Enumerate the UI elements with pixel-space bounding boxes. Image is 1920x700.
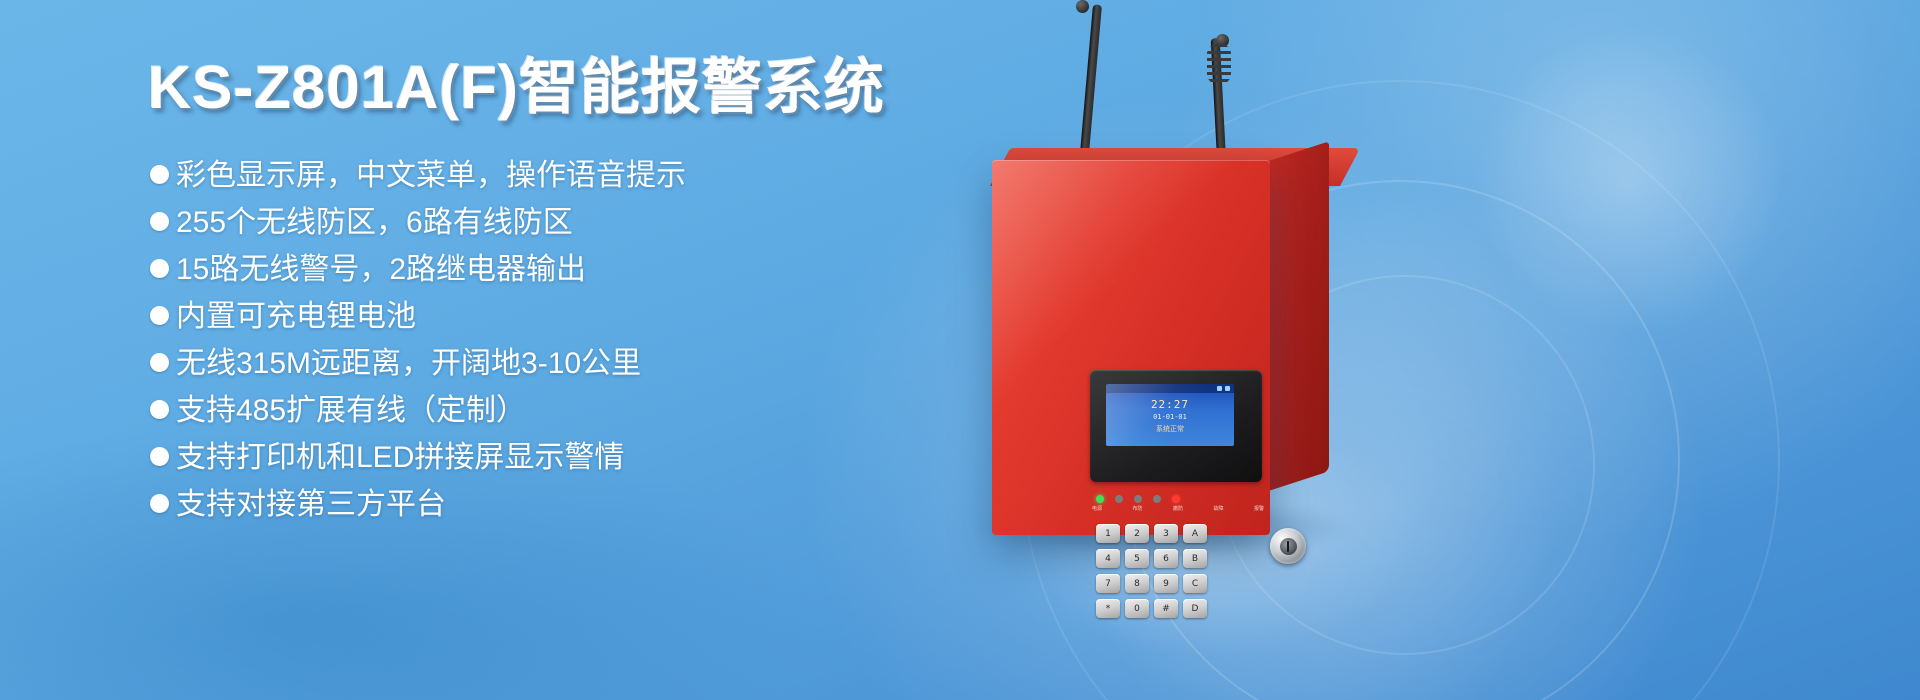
feature-text: 彩色显示屏，中文菜单，操作语音提示	[176, 156, 686, 196]
enclosure-front-face: 22:27 01-01-01 系统正常 电源 布防 撤防 故障 报警	[992, 160, 1270, 535]
led-label: 布防	[1132, 505, 1142, 512]
feature-text: 支持对接第三方平台	[176, 485, 446, 525]
list-item: 无线315M远距离，开阔地3-10公里	[150, 344, 950, 384]
bullet-icon	[150, 165, 169, 184]
feature-text: 支持485扩展有线（定制）	[176, 391, 526, 431]
list-item: 支持对接第三方平台	[150, 485, 950, 525]
feature-text: 支持打印机和LED拼接屏显示警情	[176, 438, 624, 478]
keypad-key[interactable]: 3	[1154, 524, 1178, 543]
list-item: 支持打印机和LED拼接屏显示警情	[150, 438, 950, 478]
product-banner: KS-Z801A(F)智能报警系统 彩色显示屏，中文菜单，操作语音提示 255个…	[0, 0, 1920, 700]
alarm-control-panel-image: 22:27 01-01-01 系统正常 电源 布防 撤防 故障 报警	[930, 0, 1490, 700]
led-label: 故障	[1213, 505, 1223, 512]
led-fault-icon	[1153, 495, 1161, 503]
keypad-key[interactable]: #	[1154, 599, 1178, 618]
keypad-key[interactable]: 2	[1125, 524, 1149, 543]
bullet-icon	[150, 259, 169, 278]
keypad-key[interactable]: *	[1096, 599, 1120, 618]
list-item: 彩色显示屏，中文菜单，操作语音提示	[150, 156, 950, 196]
antenna-left-tip-icon	[1076, 0, 1089, 13]
keypad-key[interactable]: 4	[1096, 549, 1120, 568]
led-arm-icon	[1115, 495, 1123, 503]
feature-text: 255个无线防区，6路有线防区	[176, 203, 573, 243]
feature-text: 内置可充电锂电池	[176, 297, 416, 337]
led-alarm-icon	[1172, 495, 1180, 503]
list-item: 15路无线警号，2路继电器输出	[150, 250, 950, 290]
bullet-icon	[150, 353, 169, 372]
product-title: KS-Z801A(F)智能报警系统	[148, 55, 885, 121]
bullet-icon	[150, 306, 169, 325]
led-label-row: 电源 布防 撤防 故障 报警	[1092, 505, 1264, 512]
led-disarm-icon	[1134, 495, 1142, 503]
keypad[interactable]: 1 2 3 A 4 5 6 B 7 8 9 C * 0 # D	[1096, 524, 1214, 621]
led-indicator-row	[1096, 494, 1256, 504]
keypad-key[interactable]: 9	[1154, 574, 1178, 593]
keypad-key[interactable]: A	[1183, 524, 1207, 543]
antenna-coil-icon	[1207, 44, 1231, 84]
feature-text: 15路无线警号，2路继电器输出	[176, 250, 586, 290]
feature-text: 无线315M远距离，开阔地3-10公里	[176, 344, 641, 384]
copy-column: KS-Z801A(F)智能报警系统 彩色显示屏，中文菜单，操作语音提示 255个…	[0, 0, 980, 700]
decorative-glow-top	[1480, 30, 1780, 330]
feature-list: 彩色显示屏，中文菜单，操作语音提示 255个无线防区，6路有线防区 15路无线警…	[150, 156, 950, 532]
enclosure-side-face	[1263, 141, 1329, 492]
keypad-key[interactable]: 1	[1096, 524, 1120, 543]
key-lock-icon[interactable]	[1270, 528, 1306, 564]
led-label: 电源	[1092, 505, 1102, 512]
keypad-key[interactable]: 6	[1154, 549, 1178, 568]
lock-core	[1280, 538, 1297, 555]
list-item: 255个无线防区，6路有线防区	[150, 203, 950, 243]
led-label: 撤防	[1173, 505, 1183, 512]
keypad-key[interactable]: B	[1183, 549, 1207, 568]
keypad-key[interactable]: C	[1183, 574, 1207, 593]
bullet-icon	[150, 212, 169, 231]
screen-bezel: 22:27 01-01-01 系统正常	[1090, 370, 1262, 482]
lcd-screen: 22:27 01-01-01 系统正常	[1106, 384, 1234, 446]
list-item: 内置可充电锂电池	[150, 297, 950, 337]
keypad-key[interactable]: 7	[1096, 574, 1120, 593]
keypad-key[interactable]: 8	[1125, 574, 1149, 593]
led-power-icon	[1096, 495, 1104, 503]
bullet-icon	[150, 400, 169, 419]
keypad-key[interactable]: D	[1183, 599, 1207, 618]
led-label: 报警	[1254, 505, 1264, 512]
list-item: 支持485扩展有线（定制）	[150, 391, 950, 431]
lock-keyhole	[1287, 541, 1289, 552]
keypad-key[interactable]: 0	[1125, 599, 1149, 618]
bullet-icon	[150, 447, 169, 466]
screen-glare	[1106, 384, 1234, 446]
keypad-key[interactable]: 5	[1125, 549, 1149, 568]
bullet-icon	[150, 494, 169, 513]
